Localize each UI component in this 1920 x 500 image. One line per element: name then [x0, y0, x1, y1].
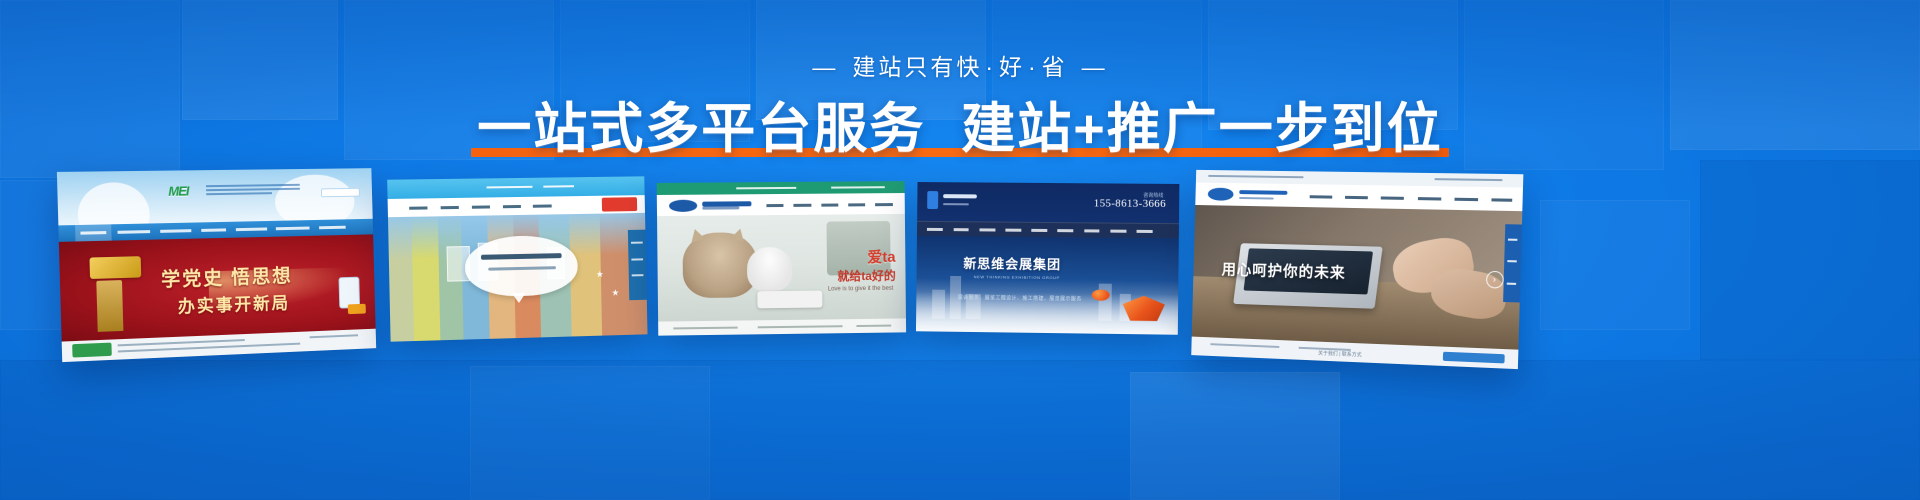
- tagline-dash-left: —: [798, 56, 852, 79]
- site5-nav-item[interactable]: [1492, 198, 1513, 201]
- site2-nav-item[interactable]: [471, 206, 489, 209]
- site1-nav-item[interactable]: [118, 230, 150, 234]
- text-line: [487, 186, 533, 189]
- site3-nav-item[interactable]: [821, 203, 838, 206]
- site5-side-toolbar[interactable]: [1503, 225, 1522, 303]
- star-icon: ★: [611, 288, 619, 299]
- site4-nav-item[interactable]: [1084, 229, 1100, 232]
- site4-logo: [928, 191, 939, 208]
- site4-hero-desc: 展会服务、展览工程设计、施工搭建、展览展示服务: [958, 294, 1082, 302]
- tagline-dash-right: —: [1068, 56, 1122, 79]
- site5-hero-title: 用心呵护你的未来: [1221, 258, 1346, 282]
- tagline-word-3: 省: [1042, 54, 1068, 80]
- banner-tagline: —建站只有快·好·省—: [0, 56, 1920, 79]
- site1-nav-item[interactable]: [160, 229, 192, 233]
- monument-shape: [96, 280, 124, 332]
- star-icon: ★: [596, 269, 604, 280]
- site2-nav-item[interactable]: [409, 207, 427, 210]
- site4-nav-item[interactable]: [1137, 230, 1153, 233]
- site1-nav-item[interactable]: [319, 226, 346, 230]
- next-slide-arrow-icon[interactable]: ›: [1485, 270, 1503, 288]
- showcase-item-kindergarten[interactable]: ★ ★: [387, 176, 647, 341]
- site1-nav-item[interactable]: [201, 228, 226, 232]
- text-line: [206, 188, 299, 191]
- toolbar-line: [632, 258, 643, 260]
- site5-nav-item[interactable]: [1345, 195, 1368, 198]
- toolbar-line: [1507, 282, 1517, 284]
- pet-bowl-shape: [758, 291, 823, 309]
- text-line: [206, 184, 299, 187]
- showcase-item-health-care[interactable]: 用心呵护你的未来 ›: [1191, 170, 1523, 369]
- site2-nav-item[interactable]: [440, 206, 458, 209]
- site4-hero-title: 新思维会展集团: [963, 253, 1061, 273]
- site5-nav-item[interactable]: [1454, 197, 1478, 200]
- toolbar-line: [1508, 239, 1518, 241]
- site4-hero: 新思维会展集团 NEW THINKING EXHIBITION GROUP 展会…: [916, 236, 1179, 335]
- site4-nav-item[interactable]: [953, 228, 969, 231]
- site4-nav-item[interactable]: [979, 228, 995, 231]
- text-line: [737, 187, 797, 189]
- site3-tagline-en: Love is to give it the best: [828, 285, 894, 292]
- site1-logo: MEI: [168, 183, 189, 198]
- site3-header: [657, 193, 905, 216]
- headline-row: 一站式多平台服务建站+推广一步到位: [477, 99, 1443, 159]
- site5-logo: [1208, 187, 1233, 200]
- tagline-word-2: 好: [999, 54, 1025, 80]
- party-emblem-icon: [89, 256, 142, 279]
- site5-nav-item[interactable]: [1381, 196, 1404, 199]
- site4-nav-item[interactable]: [1110, 229, 1126, 232]
- site3-nav-item[interactable]: [875, 203, 892, 206]
- site3-brand-sub: [702, 207, 739, 210]
- site1-search-input[interactable]: [321, 188, 360, 197]
- text-line: [1435, 178, 1503, 181]
- site1-footer-logo: [72, 343, 112, 358]
- toolbar-line: [1507, 260, 1517, 262]
- bubble-tail-shape: [512, 293, 526, 303]
- site2-nav-item[interactable]: [502, 205, 520, 208]
- site3-logo: [669, 200, 697, 212]
- site1-top-badge[interactable]: [348, 303, 366, 314]
- site3-headline: 爱ta: [867, 246, 895, 267]
- site4-header: 咨询热线 155-8613-3666: [917, 182, 1179, 223]
- site4-phone-number: 155-8613-3666: [1094, 197, 1166, 210]
- toolbar-line: [632, 275, 643, 277]
- text-line: [831, 186, 885, 188]
- headline-part-2: 建站+推广一步到位: [961, 99, 1443, 159]
- text-line: [1210, 343, 1280, 348]
- tagline-separator: ·: [982, 56, 999, 79]
- text-line: [310, 335, 358, 339]
- site5-brand-sub: [1239, 196, 1274, 199]
- site4-hero-subtitle: NEW THINKING EXHIBITION GROUP: [974, 275, 1060, 281]
- cat-photo-second: [747, 247, 792, 292]
- text-line: [673, 326, 738, 329]
- showcase-item-exhibition-group[interactable]: 新思维会展集团 NEW THINKING EXHIBITION GROUP 展会…: [916, 182, 1179, 335]
- showcase-item-party-education[interactable]: MEI: [57, 168, 376, 362]
- text-line: [857, 324, 891, 326]
- site4-nav-item[interactable]: [927, 228, 943, 231]
- site5-nav-item[interactable]: [1309, 195, 1332, 198]
- headline-part-1: 一站式多平台服务: [477, 99, 925, 159]
- site2-bubble-title: [481, 253, 562, 260]
- site1-nav-item[interactable]: [276, 227, 310, 231]
- showcase-item-pet-care[interactable]: 爱ta 就给ta好的 Love is to give it the best: [657, 181, 906, 336]
- cat-photo: [682, 232, 757, 298]
- site3-footer: [658, 319, 906, 336]
- site4-brand-sub: [943, 203, 969, 205]
- site5-hero-photo: 用心呵护你的未来 ›: [1192, 205, 1523, 350]
- site5-footer-button[interactable]: [1443, 351, 1504, 364]
- tagline-separator: ·: [1025, 56, 1042, 79]
- site1-banner-line2: 办实事开新局: [177, 289, 290, 318]
- site4-nav[interactable]: [917, 221, 1179, 238]
- site3-brand-name: [702, 201, 752, 206]
- banner-stage: —建站只有快·好·省— 一站式多平台服务建站+推广一步到位 MEI: [0, 0, 1920, 500]
- text-line: [758, 325, 842, 328]
- page-title: 一站式多平台服务建站+推广一步到位: [477, 99, 1443, 159]
- site1-nav-item[interactable]: [236, 228, 267, 232]
- site2-bubble-subtitle: [488, 266, 556, 270]
- site3-hero-photo: 爱ta 就给ta好的 Love is to give it the best: [657, 214, 906, 322]
- site4-nav-item[interactable]: [1005, 228, 1021, 231]
- text-line: [543, 185, 574, 187]
- tagline-word-1: 建站只有快: [852, 54, 982, 80]
- site3-nav-item[interactable]: [794, 204, 811, 207]
- site3-nav-item[interactable]: [767, 204, 784, 207]
- building-shape: [932, 289, 945, 318]
- site5-nav-item[interactable]: [1418, 197, 1441, 200]
- site1-hero: 学党史 悟思想 办实事开新局: [59, 235, 376, 341]
- site3-headline-2: 就给ta好的: [837, 267, 895, 285]
- site5-brand-name: [1239, 190, 1287, 195]
- site4-nav-item[interactable]: [1058, 229, 1074, 232]
- site1-banner-line1: 学党史 悟思想: [161, 261, 293, 292]
- text-line: [206, 192, 272, 195]
- site1-company-name: [206, 184, 299, 197]
- toolbar-line: [631, 241, 642, 243]
- site1-nav-item[interactable]: [80, 231, 106, 235]
- text-line: [1208, 175, 1303, 178]
- banner-text-block: —建站只有快·好·省— 一站式多平台服务建站+推广一步到位: [0, 0, 1920, 159]
- site4-brand-name: [943, 194, 977, 198]
- site4-nav-item[interactable]: [1032, 229, 1048, 232]
- site2-side-toolbar[interactable]: [628, 230, 647, 300]
- site2-logo: [602, 197, 638, 212]
- site2-nav-item[interactable]: [533, 205, 551, 208]
- site3-nav-item[interactable]: [848, 203, 865, 206]
